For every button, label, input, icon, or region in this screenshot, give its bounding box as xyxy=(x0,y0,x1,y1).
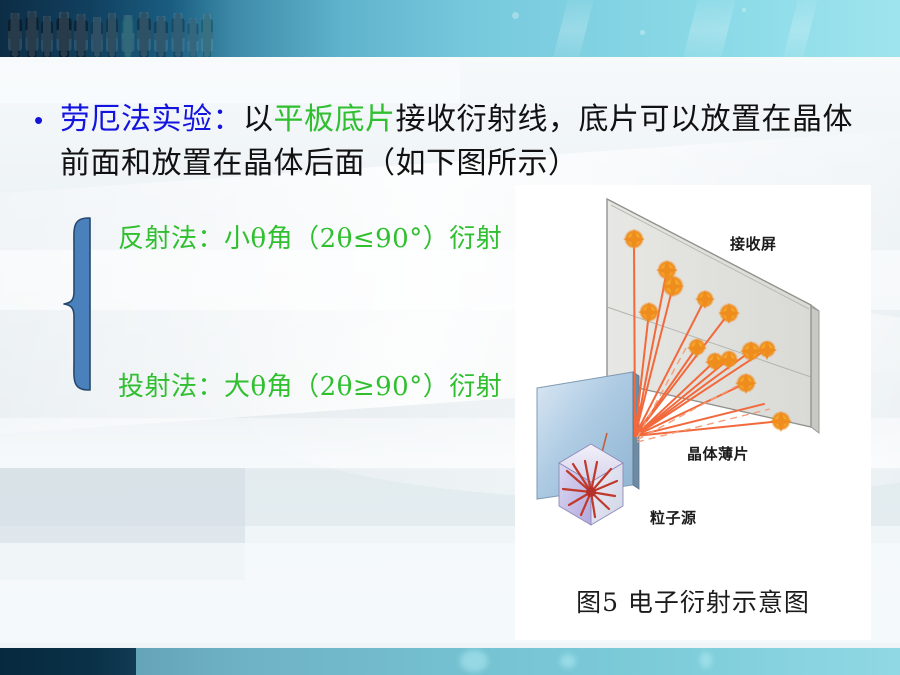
footer-bar xyxy=(0,648,900,675)
person-silhouette xyxy=(171,13,184,57)
brace-icon xyxy=(62,216,92,392)
banner-sparkle xyxy=(640,30,645,35)
person-silhouette xyxy=(8,13,22,57)
bullet-segment-a: 以 xyxy=(243,102,274,137)
person-silhouette xyxy=(25,11,38,57)
person-silhouette xyxy=(56,12,71,57)
figure-image-card: 接收屏 晶体薄片 粒子源 图5 电子衍射示意图 xyxy=(515,185,871,640)
banner-sparkle xyxy=(512,12,519,19)
figure-label-source: 粒子源 xyxy=(650,507,697,528)
person-silhouette xyxy=(154,16,168,57)
person-silhouette xyxy=(91,17,103,57)
banner-streak xyxy=(780,0,820,57)
people-silhouette-group xyxy=(8,10,213,57)
person-silhouette xyxy=(201,14,213,57)
silhouette-body xyxy=(25,17,38,38)
silhouette-legs xyxy=(123,39,132,57)
person-silhouette xyxy=(137,12,151,57)
footer-glow xyxy=(700,652,712,668)
silhouette-body xyxy=(74,20,88,40)
person-silhouette xyxy=(121,15,134,57)
silhouette-legs xyxy=(173,38,182,57)
banner-sparkle xyxy=(742,8,746,12)
footer-dark-block xyxy=(0,648,136,675)
silhouette-legs xyxy=(43,40,51,57)
bullet-marker: • xyxy=(30,98,60,142)
silhouette-body xyxy=(8,19,22,39)
footer-glow xyxy=(460,650,488,672)
silhouette-legs xyxy=(108,38,116,57)
bullet-paragraph: 劳厄法实验：以平板底片接收衍射线，底片可以放置在晶体前面和放置在晶体后面（如下图… xyxy=(60,98,880,186)
person-silhouette xyxy=(41,16,53,57)
banner-streak xyxy=(680,0,738,57)
silhouette-body xyxy=(201,19,213,39)
person-silhouette xyxy=(74,14,88,57)
silhouette-legs xyxy=(140,39,149,57)
person-silhouette xyxy=(187,18,198,57)
footer-glow xyxy=(560,654,576,668)
silhouette-body xyxy=(121,20,134,39)
left-curly-brace xyxy=(62,216,92,392)
silhouette-body xyxy=(56,18,71,39)
header-banner xyxy=(0,0,900,57)
main-bullet-block: • 劳厄法实验：以平板底片接收衍射线，底片可以放置在晶体前面和放置在晶体后面（如… xyxy=(30,98,880,186)
figure-caption: 图5 电子衍射示意图 xyxy=(515,583,871,619)
banner-streak xyxy=(550,0,596,57)
silhouette-legs xyxy=(77,40,86,57)
person-silhouette xyxy=(106,13,118,57)
presentation-slide: • 劳厄法实验：以平板底片接收衍射线，底片可以放置在晶体前面和放置在晶体后面（如… xyxy=(0,0,900,675)
silhouette-legs xyxy=(203,39,211,57)
silhouette-body xyxy=(41,21,53,40)
method-line-reflection: 反射法：小θ角（2θ≤90°）衍射 xyxy=(118,218,502,255)
bullet-segment-highlight: 平板底片 xyxy=(274,102,396,137)
silhouette-body xyxy=(106,18,118,38)
silhouette-body xyxy=(137,18,151,39)
silhouette-body xyxy=(154,21,168,40)
silhouette-legs xyxy=(59,39,69,57)
silhouette-body xyxy=(187,23,198,41)
background-left-panel xyxy=(0,468,245,580)
method-line-transmission: 投射法：大θ角（2θ≥90°）衍射 xyxy=(118,366,502,403)
bullet-segment-title: 劳厄法实验： xyxy=(60,102,243,137)
silhouette-legs xyxy=(189,41,196,57)
silhouette-legs xyxy=(27,38,36,57)
silhouette-legs xyxy=(11,39,20,57)
figure-label-crystal: 晶体薄片 xyxy=(687,443,749,464)
silhouette-body xyxy=(171,18,184,38)
silhouette-body xyxy=(91,22,103,40)
figure-label-screen: 接收屏 xyxy=(730,233,777,254)
silhouette-legs xyxy=(157,40,166,57)
silhouette-legs xyxy=(93,40,101,57)
